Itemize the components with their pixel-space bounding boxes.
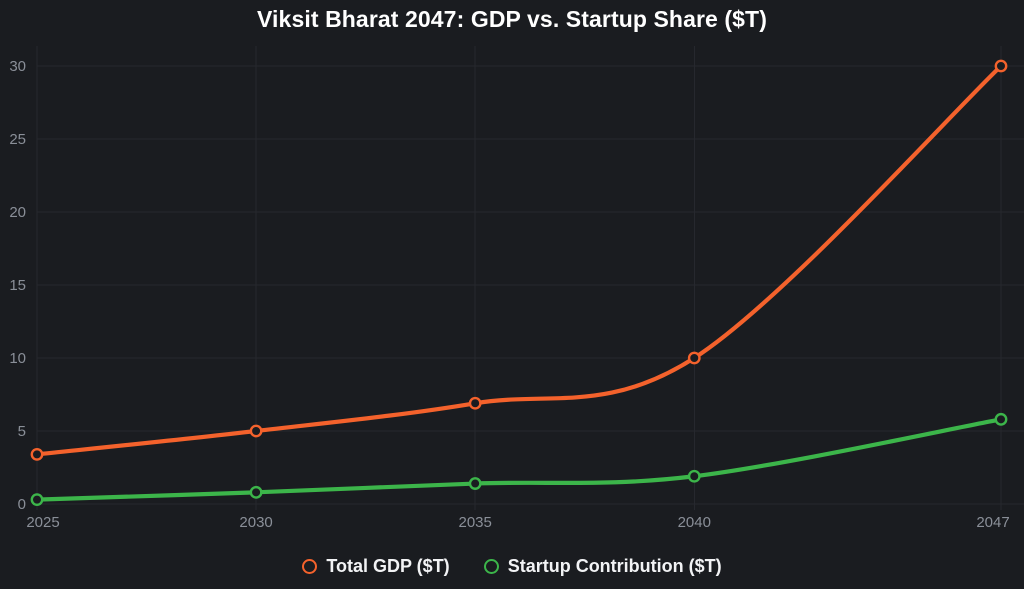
y-axis-tick-label: 20 (9, 204, 26, 221)
data-point-marker[interactable] (251, 487, 261, 497)
data-point-marker[interactable] (689, 471, 699, 481)
data-point-marker[interactable] (251, 426, 261, 436)
legend-swatch-icon (302, 559, 317, 574)
chart-plot-area: 051015202530 20252030203520402047 (0, 0, 1024, 589)
chart-legend: Total GDP ($T)Startup Contribution ($T) (0, 556, 1024, 577)
legend-swatch-icon (484, 559, 499, 574)
x-axis-tick-label: 2047 (976, 514, 1009, 531)
legend-label: Startup Contribution ($T) (508, 556, 722, 577)
x-axis-tick-label: 2035 (458, 514, 491, 531)
y-axis-tick-label: 25 (9, 131, 26, 148)
y-axis-tick-label: 15 (9, 277, 26, 294)
x-axis-tick-labels: 20252030203520402047 (26, 514, 1009, 531)
x-axis-tick-label: 2040 (678, 514, 711, 531)
y-axis-tick-label: 10 (9, 350, 26, 367)
y-axis-tick-label: 0 (18, 496, 26, 513)
data-point-marker[interactable] (689, 353, 699, 363)
data-point-marker[interactable] (996, 61, 1006, 71)
y-axis-tick-label: 30 (9, 58, 26, 75)
legend-item-1[interactable]: Startup Contribution ($T) (484, 556, 722, 577)
y-axis-tick-labels: 051015202530 (9, 58, 26, 513)
legend-label: Total GDP ($T) (326, 556, 449, 577)
data-point-marker[interactable] (470, 478, 480, 488)
y-axis-tick-label: 5 (18, 423, 26, 440)
x-axis-tick-label: 2030 (239, 514, 272, 531)
data-point-marker[interactable] (32, 494, 42, 504)
series-line-0 (37, 66, 1001, 454)
x-axis-tick-label: 2025 (26, 514, 59, 531)
series-lines-group (37, 66, 1001, 500)
data-point-marker[interactable] (470, 398, 480, 408)
chart-container: Viksit Bharat 2047: GDP vs. Startup Shar… (0, 0, 1024, 589)
data-point-marker[interactable] (32, 449, 42, 459)
legend-item-0[interactable]: Total GDP ($T) (302, 556, 449, 577)
data-point-marker[interactable] (996, 414, 1006, 424)
